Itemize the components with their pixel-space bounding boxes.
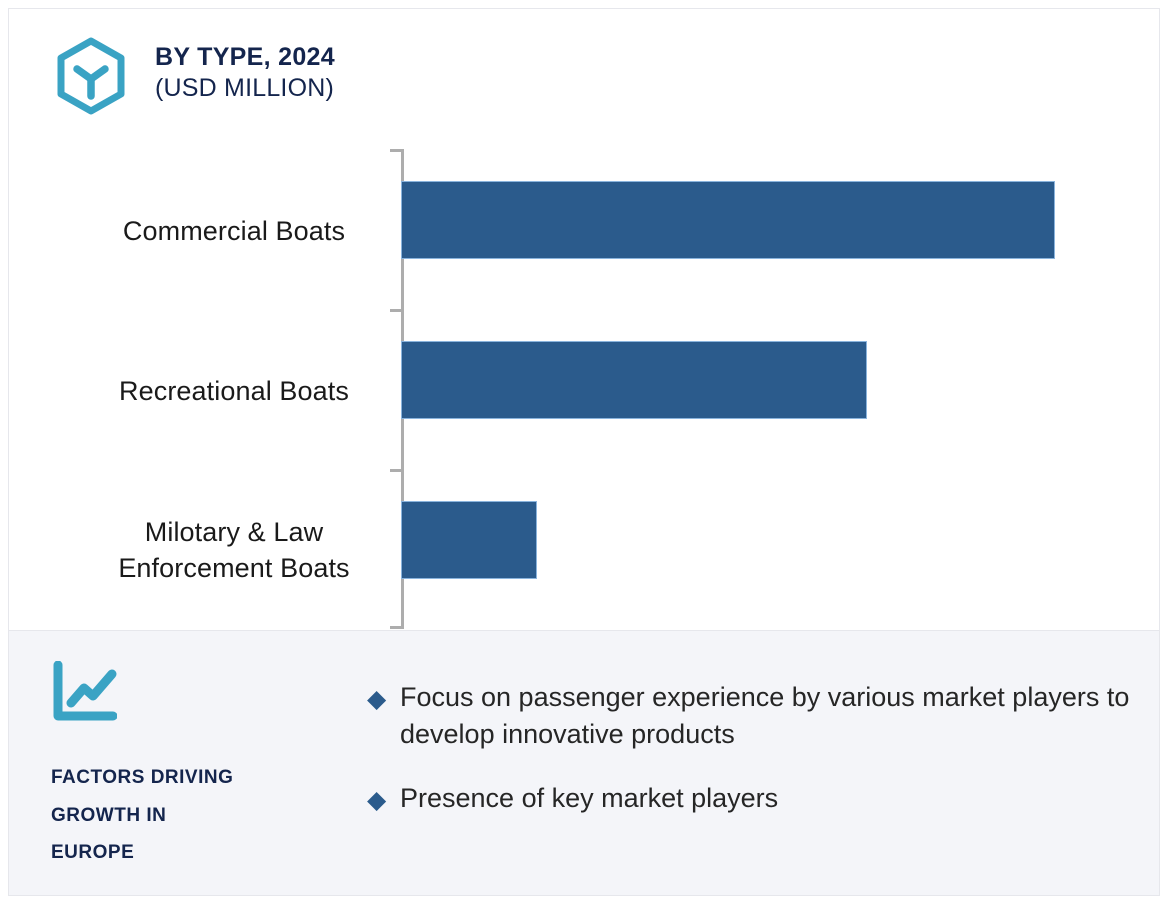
factors-panel-title: FACTORS DRIVING GROWTH IN EUROPE <box>51 759 301 872</box>
chart-title-units: (USD MILLION) <box>155 73 335 104</box>
plot-area: Commercial Boats Recreational Boats Milo… <box>9 129 1160 629</box>
bar-commercial-boats <box>401 181 1055 259</box>
chart-title-block: BY TYPE, 2024 (USD MILLION) <box>155 42 335 103</box>
factors-title-line: GROWTH IN <box>51 797 301 835</box>
list-item-text: Focus on passenger experience by various… <box>400 682 1129 749</box>
growth-line-chart-icon <box>51 661 117 723</box>
chart-header: BY TYPE, 2024 (USD MILLION) <box>9 9 1159 129</box>
diamond-bullet-icon: ◆ <box>367 681 386 717</box>
factors-title-line: FACTORS DRIVING <box>51 759 301 797</box>
category-label: Recreational Boats <box>69 373 399 409</box>
category-label: Commercial Boats <box>69 213 399 249</box>
infographic-card: BY TYPE, 2024 (USD MILLION) Commercial B… <box>8 8 1160 896</box>
bar-recreational-boats <box>401 341 867 419</box>
category-label: Milotary & Law Enforcement Boats <box>69 514 399 586</box>
factors-panel: FACTORS DRIVING GROWTH IN EUROPE ◆ Focus… <box>9 630 1160 896</box>
list-item-text: Presence of key market players <box>400 783 778 813</box>
list-item: ◆ Presence of key market players <box>364 780 1134 817</box>
list-item: ◆ Focus on passenger experience by vario… <box>364 679 1134 754</box>
bar-military-law-enforcement-boats <box>401 501 537 579</box>
chart-title-primary: BY TYPE, 2024 <box>155 42 335 73</box>
factors-bullet-list: ◆ Focus on passenger experience by vario… <box>364 679 1134 843</box>
factors-title-line: EUROPE <box>51 834 301 872</box>
diamond-bullet-icon: ◆ <box>367 782 386 818</box>
bar-chart: Commercial Boats Recreational Boats Milo… <box>9 129 1159 629</box>
hexagon-y-logo-icon <box>51 36 131 116</box>
